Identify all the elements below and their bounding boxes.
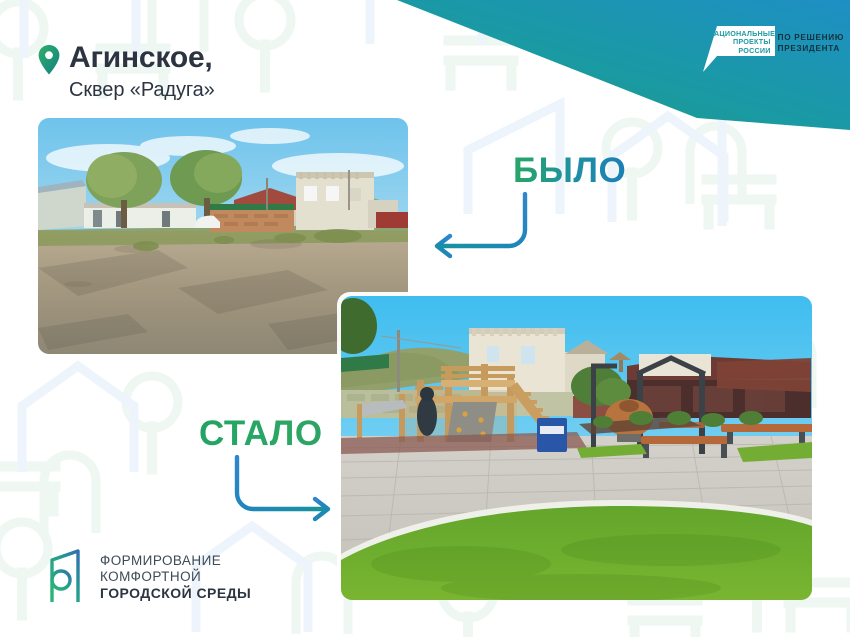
curved-arrow-right-icon	[231, 455, 341, 530]
map-pin-icon	[38, 45, 60, 75]
footer-logo-line3: ГОРОДСКОЙ СРЕДЫ	[100, 585, 251, 602]
badge-flag-shape: НАЦИОНАЛЬНЫЕ ПРОЕКТЫ РОССИИ	[703, 26, 775, 72]
badge-national-projects-text: НАЦИОНАЛЬНЫЕ ПРОЕКТЫ РОССИИ	[709, 30, 771, 55]
komfortnaya-sreda-logo-icon	[42, 548, 86, 606]
footer-logo-line1: ФОРМИРОВАНИЕ	[100, 553, 251, 569]
place-name: Сквер «Радуга»	[69, 78, 215, 102]
badge-president-text: ПО РЕШЕНИЮ ПРЕЗИДЕНТА	[778, 32, 844, 54]
footer-logo-text: ФОРМИРОВАНИЕ КОМФОРТНОЙ ГОРОДСКОЙ СРЕДЫ	[100, 553, 251, 602]
badge-president-line2: ПРЕЗИДЕНТА	[778, 43, 844, 54]
label-before: БЫЛО	[513, 152, 626, 190]
curved-arrow-left-icon	[424, 192, 534, 267]
city-name: Агинское,	[69, 42, 213, 74]
national-projects-badge: НАЦИОНАЛЬНЫЕ ПРОЕКТЫ РОССИИ ПО РЕШЕНИЮ П…	[703, 26, 844, 72]
footer-logo-line2: КОМФОРТНОЙ	[100, 569, 251, 585]
badge-president-line1: ПО РЕШЕНИЮ	[778, 32, 844, 43]
poster-canvas: НАЦИОНАЛЬНЫЕ ПРОЕКТЫ РОССИИ ПО РЕШЕНИЮ П…	[0, 0, 850, 637]
page-title: Агинское, Сквер «Радуга»	[38, 42, 215, 102]
photo-after	[341, 296, 812, 600]
footer-logo: ФОРМИРОВАНИЕ КОМФОРТНОЙ ГОРОДСКОЙ СРЕДЫ	[42, 548, 251, 606]
label-after: СТАЛО	[199, 415, 323, 453]
badge-np-line3: РОССИИ	[709, 47, 771, 55]
